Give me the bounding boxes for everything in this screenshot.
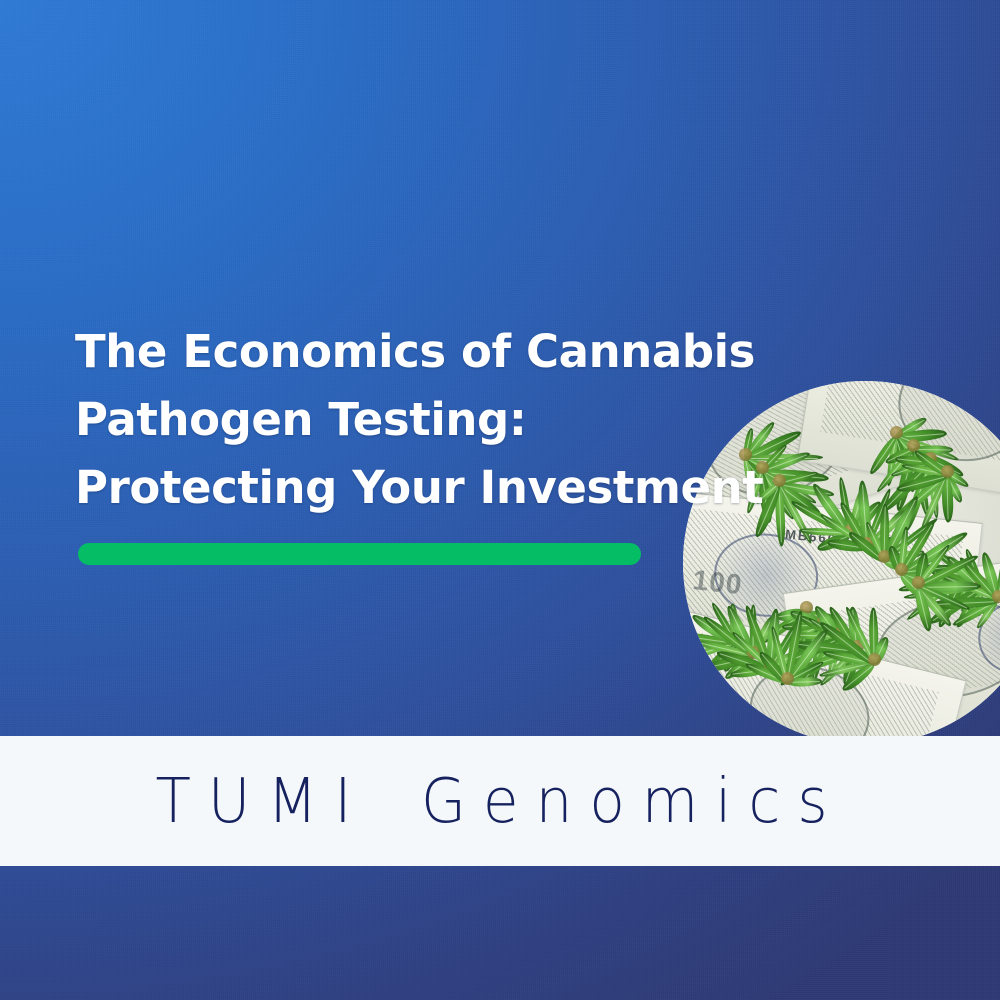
brand-name-primary: TUMI: [155, 765, 368, 837]
brand-name: TUMI Genomics: [155, 765, 844, 837]
cannabis-bud: [890, 426, 903, 439]
green-accent-rule: [78, 543, 641, 565]
cannabis-bud: [868, 653, 881, 666]
bill-denomination: 100: [691, 564, 744, 601]
headline-line-1: The Economics of Cannabis: [75, 318, 715, 386]
cannabis-bud: [895, 563, 908, 576]
headline: The Economics of Cannabis Pathogen Testi…: [75, 318, 715, 522]
cannabis-bud: [992, 590, 1000, 603]
cannabis-bud: [912, 576, 925, 589]
cannabis-bud: [781, 672, 794, 685]
photo-content: 100 98 MB666 8 100: [683, 381, 1000, 745]
cannabis-bud: [941, 465, 954, 478]
social-media-card: 100 98 MB666 8 100: [0, 0, 1000, 1000]
brand-band: TUMI Genomics: [0, 736, 1000, 866]
cannabis-money-photo: 100 98 MB666 8 100: [683, 381, 1000, 745]
brand-name-secondary: Genomics: [421, 765, 845, 837]
brand-name-spacer: [369, 765, 421, 837]
headline-line-2: Pathogen Testing:: [75, 386, 715, 454]
headline-line-3: Protecting Your Investment: [75, 454, 715, 522]
